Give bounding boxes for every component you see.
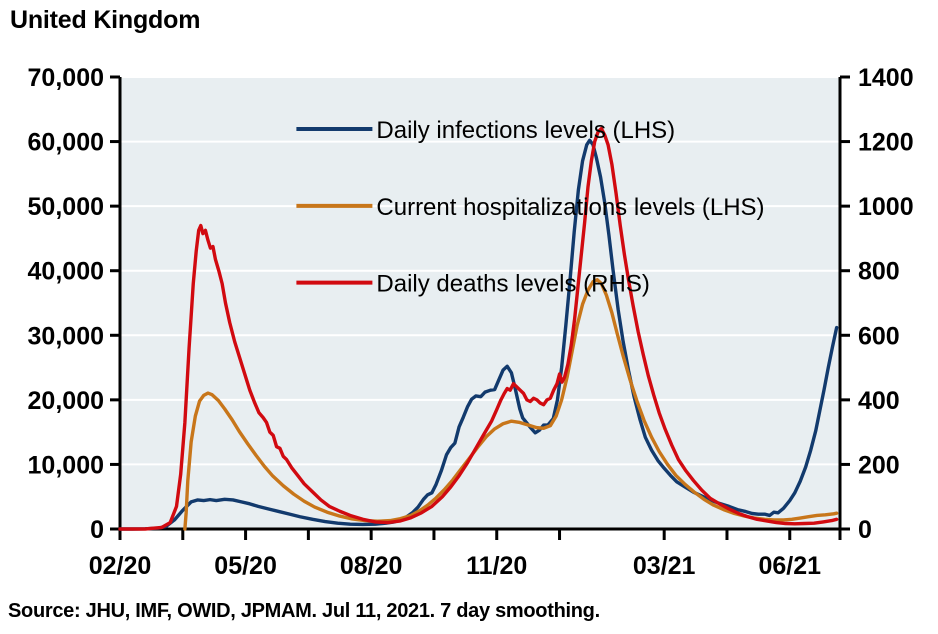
x-axis-tick-label: 11/20 (466, 552, 527, 580)
left-axis-tick-label: 0 (90, 516, 104, 544)
right-axis-tick-label: 200 (858, 451, 900, 479)
right-axis-tick-label: 1000 (858, 193, 914, 221)
x-axis-tick-label: 06/21 (758, 552, 821, 580)
left-axis-tick-label: 10,000 (28, 451, 104, 479)
left-axis-tick-label: 20,000 (28, 387, 104, 415)
plot-background (120, 77, 840, 529)
chart-canvas: 010,00020,00030,00040,00050,00060,00070,… (0, 52, 938, 592)
right-axis-tick-label: 1400 (858, 64, 914, 92)
legend-label-2: Daily deaths levels (RHS) (376, 271, 649, 298)
covid-metrics-chart: 010,00020,00030,00040,00050,00060,00070,… (0, 52, 938, 592)
x-axis-tick-label: 02/20 (89, 552, 152, 580)
x-axis-tick-label: 03/21 (633, 552, 696, 580)
legend-label-1: Current hospitalizations levels (LHS) (376, 194, 764, 221)
page-title: United Kingdom (10, 6, 200, 35)
left-axis-tick-label: 70,000 (28, 64, 104, 92)
source-note: Source: JHU, IMF, OWID, JPMAM. Jul 11, 2… (8, 600, 600, 623)
right-axis-tick-label: 800 (858, 258, 900, 286)
right-axis-tick-label: 400 (858, 387, 900, 415)
x-axis-tick-label: 05/20 (214, 552, 277, 580)
right-axis-tick-label: 1200 (858, 129, 914, 157)
right-axis-tick-label: 600 (858, 322, 900, 350)
x-axis-tick-label: 08/20 (340, 552, 403, 580)
legend-label-0: Daily infections levels (LHS) (376, 117, 675, 144)
left-axis-tick-label: 40,000 (28, 258, 104, 286)
right-axis-tick-label: 0 (858, 516, 872, 544)
left-axis-tick-label: 50,000 (28, 193, 104, 221)
left-axis-tick-label: 30,000 (28, 322, 104, 350)
left-axis-tick-label: 60,000 (28, 129, 104, 157)
